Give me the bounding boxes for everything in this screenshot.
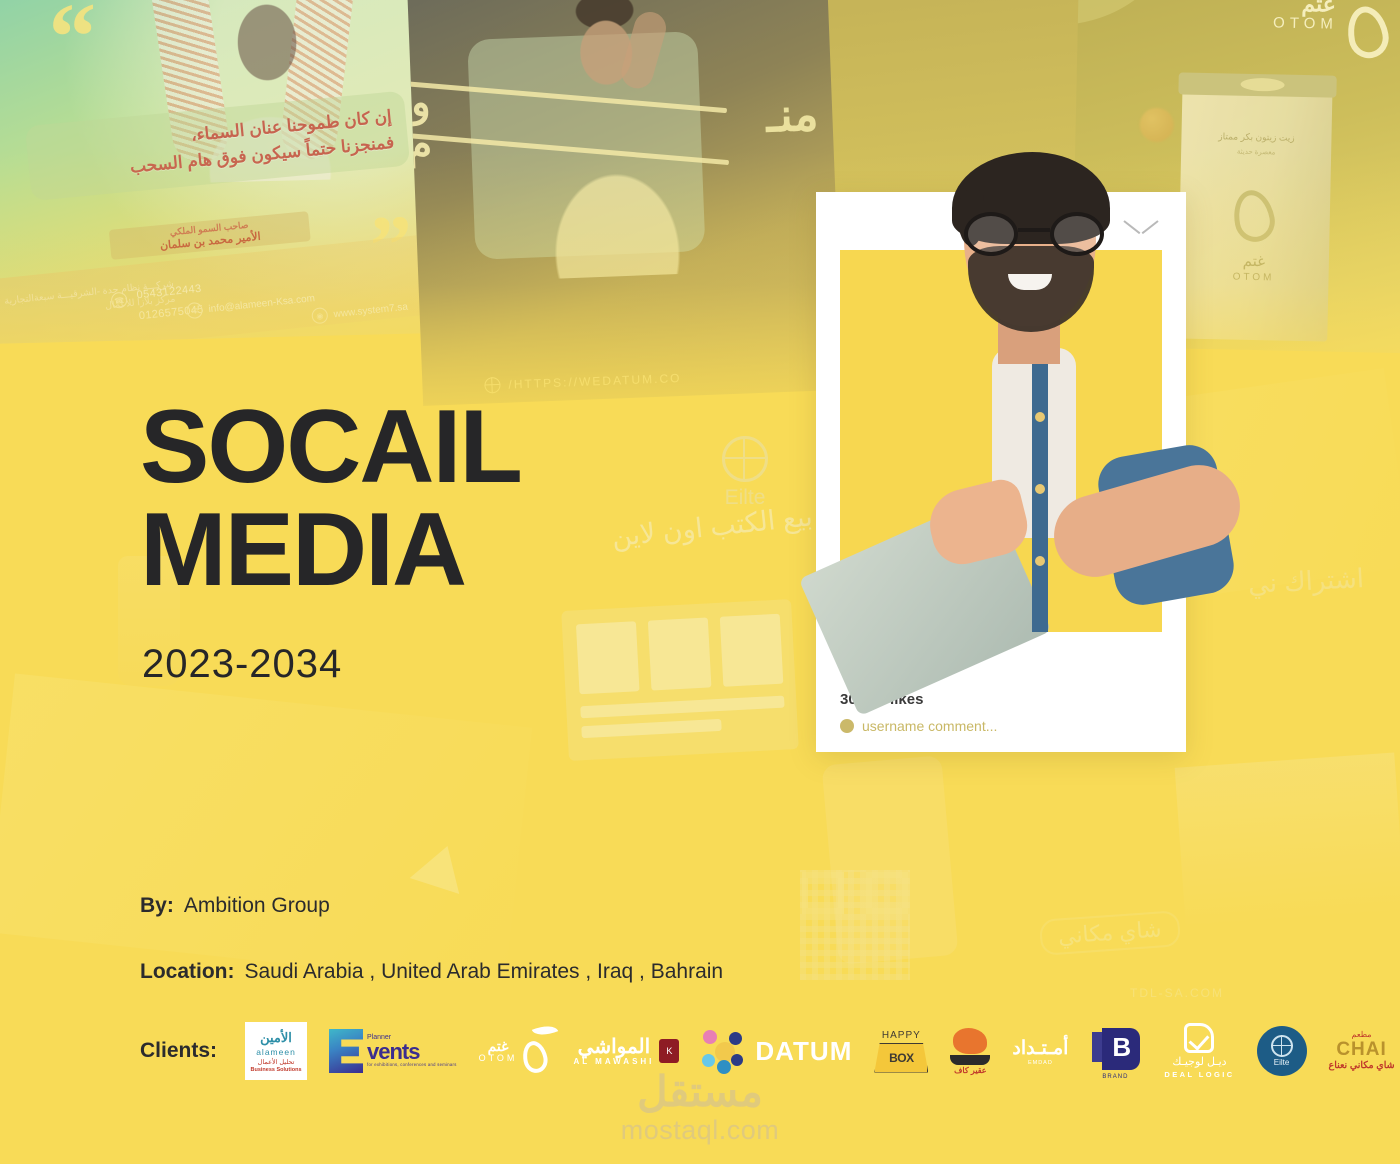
deal-logic-latin: DEAL LOGIC bbox=[1164, 1070, 1234, 1079]
thinking-arabic-right: منـ bbox=[765, 91, 819, 139]
chicken-cafe-arabic: عقير كاف bbox=[954, 1066, 986, 1075]
headline-line-1: SOCAIL bbox=[140, 398, 521, 497]
client-logo-emdad[interactable]: أمـتـداد EMDAD bbox=[1012, 1022, 1068, 1080]
watermark-latin: mostaql.com bbox=[0, 1115, 1400, 1146]
globe-icon: ◉ bbox=[311, 307, 329, 325]
decorative-bars bbox=[407, 84, 740, 169]
by-label: By: bbox=[140, 894, 174, 918]
quote-text-box: إن كان طموحنا عنان السماء، فمنجزنا حتماً… bbox=[25, 91, 410, 201]
events-e-icon bbox=[329, 1029, 363, 1073]
location-line: Location: Saudi Arabia , United Arab Emi… bbox=[140, 960, 723, 984]
by-value: Ambition Group bbox=[184, 894, 330, 918]
alameen-arabic-sub: تحليل الأعمال bbox=[258, 1058, 295, 1066]
olive-icon bbox=[521, 1027, 551, 1075]
envelope-icon: ✉ bbox=[186, 302, 204, 320]
leaf-blob-decoration bbox=[1071, 0, 1170, 28]
tin-arabic-line-1: زيت زيتون بكر ممتاز bbox=[1195, 131, 1317, 145]
poster-canvas: “ ” إن كان طموحنا عنان السماء، فمنجزنا ح… bbox=[0, 0, 1400, 1164]
client-logo-happy-box[interactable]: HAPPY BOX bbox=[874, 1022, 928, 1080]
ghost-website-mockup bbox=[561, 599, 799, 761]
chai-name: CHAI bbox=[1336, 1040, 1386, 1061]
email-address: info@alameen-Ksa.com bbox=[208, 293, 315, 315]
ghost-chai-arabic: شاي مكاني bbox=[1039, 910, 1181, 956]
emdad-latin: EMDAD bbox=[1028, 1060, 1053, 1066]
emdad-arabic: أمـتـداد bbox=[1012, 1037, 1068, 1060]
globe-growth-icon bbox=[722, 436, 768, 482]
qr-code-icon bbox=[800, 870, 910, 980]
client-logo-al-mawashi[interactable]: المواشي AL MAWASHI K bbox=[573, 1022, 679, 1080]
email-row: ✉ info@alameen-Ksa.com bbox=[186, 290, 316, 319]
by-line: By: Ambition Group bbox=[140, 894, 330, 918]
otom-latin: OTOM bbox=[479, 1054, 518, 1063]
client-logo-planner-events[interactable]: Planner vents for exhibitions, conferenc… bbox=[329, 1022, 457, 1080]
website-row: ◉ www.system7.sa bbox=[311, 299, 409, 325]
orange-decoration bbox=[1139, 108, 1174, 143]
client-logo-datum[interactable]: DATUM bbox=[701, 1022, 852, 1080]
client-logo-otom[interactable]: غتم OTOM bbox=[479, 1022, 552, 1080]
open-quote-mark: “ bbox=[48, 1, 98, 71]
clients-label: Clients: bbox=[140, 1039, 217, 1063]
client-logo-chicken-cafe[interactable]: عقير كاف bbox=[950, 1022, 990, 1080]
client-logo-deal-logic[interactable]: ديـل لوجيـك DEAL LOGIC bbox=[1164, 1022, 1234, 1080]
client-logo-b-brand[interactable]: BRAND bbox=[1090, 1028, 1142, 1074]
location-label: Location: bbox=[140, 960, 235, 984]
datum-name: DATUM bbox=[755, 1036, 852, 1067]
ghost-arrow-shape bbox=[410, 838, 472, 894]
elite-name: Eilte bbox=[1274, 1058, 1290, 1067]
phone-icon: ☎ bbox=[110, 291, 128, 309]
events-tagline: for exhibitions, conferences and seminar… bbox=[367, 1063, 457, 1067]
chai-bottom-arabic: شاي مكاني نعناع bbox=[1329, 1061, 1395, 1071]
headline-years: 2023-2034 bbox=[142, 642, 342, 687]
checkmark-icon bbox=[1184, 1023, 1214, 1053]
mawashi-arabic: المواشي bbox=[578, 1036, 651, 1058]
alameen-arabic: الأمين bbox=[260, 1030, 292, 1046]
person-photo bbox=[856, 150, 1326, 800]
contact-strip: شركـــة نظام جدة -الشرقيـــة سبعةالتجاري… bbox=[0, 232, 452, 343]
ghost-bottom-url: TDL-SA.COM bbox=[1130, 986, 1224, 1000]
chicken-icon bbox=[953, 1028, 987, 1054]
tin-cap bbox=[1178, 72, 1336, 97]
globe-icon bbox=[1271, 1035, 1293, 1057]
otom-arabic: غتم bbox=[488, 1039, 509, 1054]
ghost-band-left bbox=[0, 674, 532, 987]
eyeglasses-icon bbox=[964, 212, 1104, 256]
halal-seal-icon: K bbox=[659, 1039, 679, 1063]
wedatum-url: /HTTPS://WEDATUM.CO bbox=[508, 371, 682, 392]
datum-dots-icon bbox=[701, 1028, 747, 1074]
avatar-icon bbox=[840, 719, 854, 733]
alameen-latin-sub: Business Solutions bbox=[250, 1067, 301, 1073]
client-logo-chai-restaurant[interactable]: مطعم CHAI شاي مكاني نعناع bbox=[1329, 1022, 1395, 1080]
happy-top: HAPPY bbox=[882, 1030, 921, 1041]
collage-quote-poster: “ ” إن كان طموحنا عنان السماء، فمنجزنا ح… bbox=[0, 0, 474, 344]
client-logo-alameen[interactable]: الأمين alameen تحليل الأعمال Business So… bbox=[245, 1022, 307, 1080]
b-brand-square-icon bbox=[1102, 1028, 1140, 1070]
page-title: SOCAIL MEDIA bbox=[140, 398, 521, 600]
deal-logic-arabic: ديـل لوجيـك bbox=[1172, 1055, 1226, 1068]
collage-thinking-poster: منـ وم /HTTPS://WEDATUM.CO bbox=[407, 0, 843, 406]
ghost-eilte-name: Eilte bbox=[690, 486, 800, 510]
otom-brand-latin: OTOM bbox=[1273, 14, 1338, 32]
website-url: www.system7.sa bbox=[333, 301, 408, 320]
happy-box-icon: BOX bbox=[874, 1043, 928, 1073]
alameen-latin: alameen bbox=[256, 1047, 296, 1057]
client-logo-elite[interactable]: Eilte bbox=[1257, 1026, 1307, 1076]
book-icon bbox=[950, 1055, 990, 1065]
mostaql-watermark: مستقل mostaql.com bbox=[0, 1071, 1400, 1146]
shirt-placket bbox=[1032, 362, 1048, 632]
mawashi-latin: AL MAWASHI bbox=[573, 1058, 654, 1067]
ghost-eilte-logo: Eilte bbox=[690, 436, 800, 510]
b-brand-caption: BRAND bbox=[1102, 1074, 1128, 1080]
location-value: Saudi Arabia , United Arab Emirates , Ir… bbox=[245, 960, 724, 984]
clients-row: Clients: الأمين alameen تحليل الأعمال Bu… bbox=[140, 1022, 1395, 1080]
events-main: vents bbox=[367, 1041, 457, 1063]
headline-line-2: MEDIA bbox=[140, 501, 521, 600]
olive-icon bbox=[1341, 0, 1397, 61]
